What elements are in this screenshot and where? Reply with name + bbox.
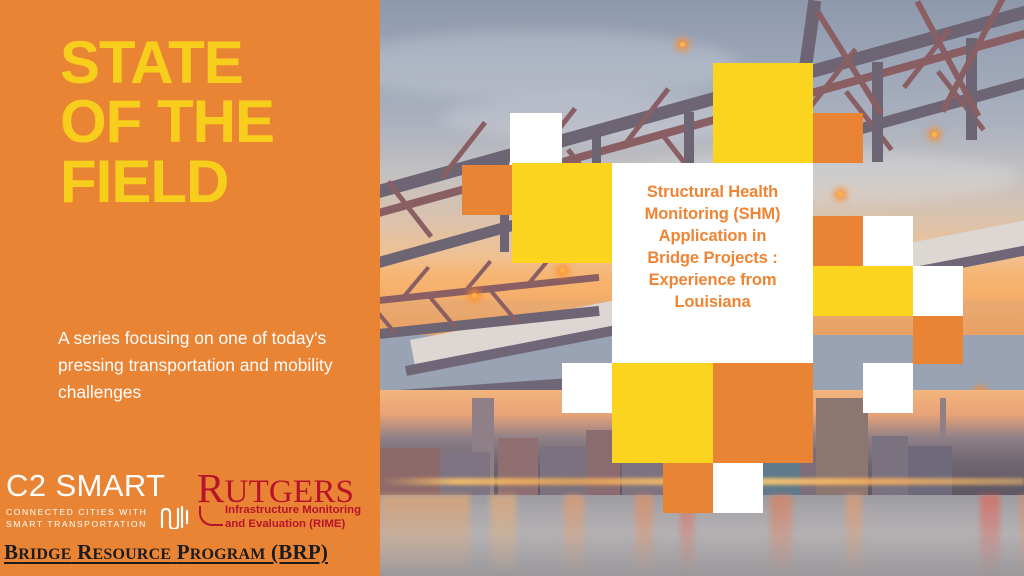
mosaic-tile-orange [813,113,863,163]
series-headline: STATE OF THE FIELD [60,33,370,211]
rutgers-wordmark: RUTGERS [197,468,377,509]
brp-suffix: (BRP) [266,540,328,564]
rutgers-swash-rule [199,506,223,526]
building [380,448,440,498]
brp-rogram: ROGRAM [190,546,266,563]
rutgers-logo: RUTGERS Infrastructure Monitoring and Ev… [197,468,377,509]
mosaic-tile-orange [713,363,813,463]
building [498,438,538,498]
brp-esource: ESOURCE [93,546,172,563]
building [540,446,586,498]
c2smart-logo: C2 SMART CONNECTED CITIES WITH SMART TRA… [6,470,192,530]
mosaic-tile-white [562,363,612,413]
headline-line: FIELD [60,152,370,211]
mosaic-tile-white [913,266,963,316]
water-reflection [980,495,1000,576]
building [908,446,952,498]
antenna [940,398,946,438]
title-line: Structural Health [612,182,813,204]
mosaic-tile-yellow [713,63,813,163]
headline-line: STATE [60,33,370,92]
bridge-lamp [838,192,843,197]
mosaic-tile-orange [913,316,963,364]
brp-b: B [4,540,18,564]
presentation-title: Structural Health Monitoring (SHM) Appli… [612,182,813,314]
water-reflection [1020,495,1024,576]
c2smart-wordmark: C2 SMART [6,470,192,501]
rime-subtitle-line: Infrastructure Monitoring [225,504,361,518]
poster-canvas: Structural Health Monitoring (SHM) Appli… [0,0,1024,576]
brp-ridge: RIDGE [18,546,71,563]
mosaic-tile-orange [813,216,863,266]
bridge-lamp [680,42,685,47]
title-line: Experience from [612,270,813,292]
mosaic-tile-orange [663,463,713,513]
bridge-lamp [472,293,477,298]
building [872,436,908,498]
rime-subtitle-line: and Evaluation (RIME) [225,518,361,532]
left-orange-panel: STATE OF THE FIELD A series focusing on … [0,0,380,576]
water-reflection [490,495,516,576]
rutgers-initial: R [197,465,225,511]
brp-r: R [77,540,92,564]
mosaic-tile-white [510,113,562,165]
water-reflection [846,495,862,576]
water-reflection [380,495,470,576]
mosaic-tile-white [713,463,763,513]
building [440,452,490,498]
water-reflection [635,495,653,576]
waveform-icon [160,505,190,529]
series-subtitle: A series focusing on one of today's pres… [58,325,370,406]
title-line: Louisiana [612,292,813,314]
mosaic-tile-white [863,363,913,413]
water-reflection [564,495,584,576]
rime-subtitle: Infrastructure Monitoring and Evaluation… [225,504,361,531]
mosaic-tile-yellow [512,163,612,263]
mosaic-tile-yellow [813,266,913,316]
title-line: Bridge Projects : [612,248,813,270]
bridge-lamp [932,132,937,137]
brp-banner: BRIDGE RESOURCE PROGRAM (BRP) [4,540,328,565]
water-reflection [770,495,792,576]
title-line: Application in [612,226,813,248]
title-line: Monitoring (SHM) [612,204,813,226]
mosaic-tile-white [863,216,913,266]
mosaic-tile-orange [462,165,512,215]
mosaic-tile-yellow [612,363,713,463]
headline-line: OF THE [60,92,370,151]
brp-p: P [177,540,190,564]
bridge-lamp [560,268,565,273]
